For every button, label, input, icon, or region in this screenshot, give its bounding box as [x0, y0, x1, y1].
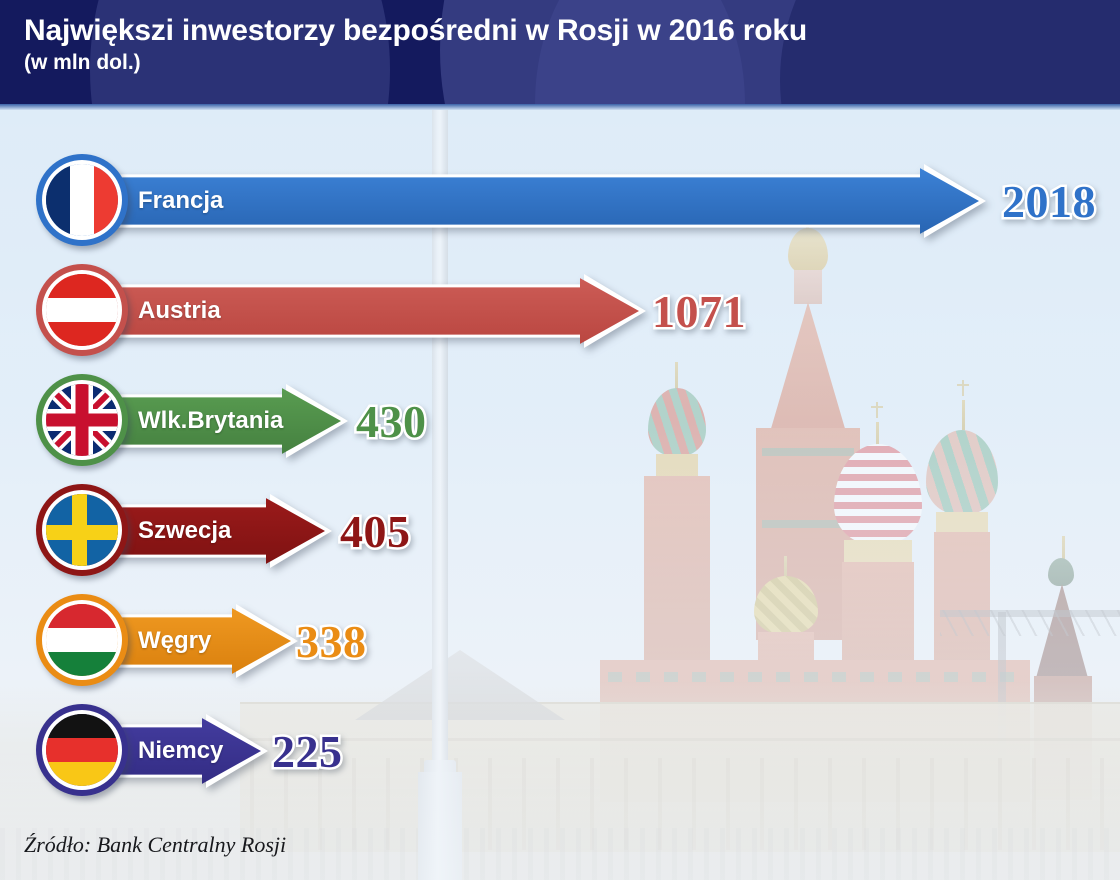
bar-label-francja: Francja: [138, 164, 223, 238]
source-caption: Źródło: Bank Centralny Rosji: [24, 832, 286, 858]
bar-value-wegry: 338: [296, 604, 367, 678]
bar-value-austria: 1071: [652, 274, 746, 348]
bar-value-niemcy: 225: [272, 714, 343, 788]
infographic-root: Największi inwestorzy bezpośredni w Rosj…: [0, 0, 1120, 880]
chart-subtitle: (w mln dol.): [24, 51, 807, 75]
bar-arrow-francja[interactable]: Francja: [86, 164, 986, 238]
france-flag-icon: [36, 154, 128, 246]
bar-label-wegry: Węgry: [138, 604, 211, 678]
bar-label-szwecja: Szwecja: [138, 494, 231, 568]
bar-row-niemcy: Niemcy 225: [0, 696, 1120, 806]
bar-value-francja: 2018: [1002, 164, 1096, 238]
bar-row-francja: Francja 2018: [0, 146, 1120, 256]
header-text-block: Największi inwestorzy bezpośredni w Rosj…: [24, 14, 807, 75]
sweden-flag-icon: [36, 484, 128, 576]
bar-label-wlk-brytania: Wlk.Brytania: [138, 384, 283, 458]
chart-title: Największi inwestorzy bezpośredni w Rosj…: [24, 14, 807, 49]
germany-flag-icon: [36, 704, 128, 796]
bar-value-szwecja: 405: [340, 494, 411, 568]
bar-row-wlk-brytania: Wlk.Brytania 430: [0, 366, 1120, 476]
bar-label-austria: Austria: [138, 274, 221, 348]
header-banner: Największi inwestorzy bezpośredni w Rosj…: [0, 0, 1120, 110]
hungary-flag-icon: [36, 594, 128, 686]
bar-row-wegry: Węgry 338: [0, 586, 1120, 696]
bar-row-austria: Austria 1071: [0, 256, 1120, 366]
bar-chart-rows: Francja 2018 Austria 1071: [0, 110, 1120, 810]
bar-value-wlk-brytania: 430: [356, 384, 427, 458]
header-arc-3: [780, 0, 1120, 110]
bar-arrow-austria[interactable]: Austria: [86, 274, 646, 348]
bar-label-niemcy: Niemcy: [138, 714, 223, 788]
bar-row-szwecja: Szwecja 405: [0, 476, 1120, 586]
united-kingdom-flag-icon: [36, 374, 128, 466]
austria-flag-icon: [36, 264, 128, 356]
